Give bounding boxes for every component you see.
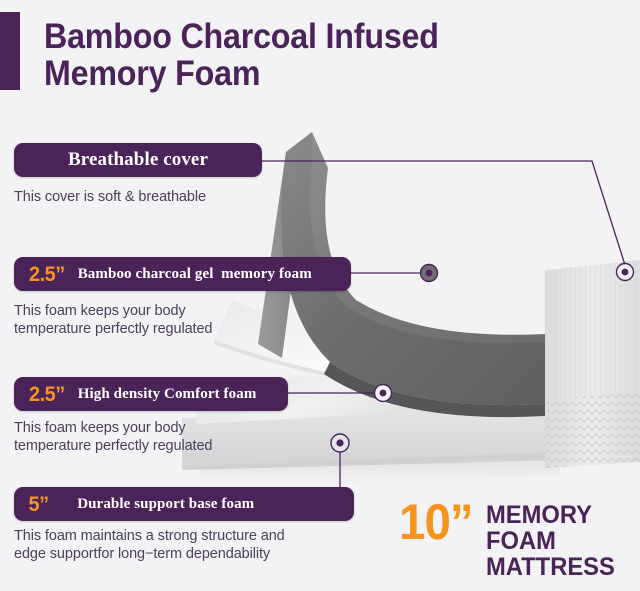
marker-dot-gel	[421, 265, 438, 282]
badge-breathable-cover[interactable]: Breathable cover	[14, 143, 262, 177]
marker-dot-cover	[617, 264, 634, 281]
badge-measurement: 5”	[29, 494, 49, 515]
mattress-spec: 10” MEMORY FOAM MATTRESS	[399, 500, 640, 580]
infographic-canvas: Bamboo Charcoal Infused Memory Foam Brea…	[0, 0, 640, 591]
page-title: Bamboo Charcoal Infused Memory Foam	[44, 18, 522, 92]
fabric-cover-panel	[545, 256, 640, 468]
badge-title: High density Comfort foam	[78, 386, 257, 403]
description-high-density-comfort: This foam keeps your body temperature pe…	[14, 420, 314, 455]
marker-dot-base	[331, 434, 349, 452]
badge-measurement: 2.5”	[29, 264, 65, 285]
badge-title: Breathable cover	[68, 149, 208, 171]
description-breathable-cover: This cover is soft & breathable	[14, 189, 294, 207]
badge-title: Bamboo charcoal gel memory foam	[78, 266, 312, 283]
spec-thickness: 10”	[399, 500, 473, 544]
description-durable-support-base: This foam maintains a strong structure a…	[14, 528, 374, 563]
badge-durable-support-base[interactable]: 5” Durable support base foam	[14, 487, 354, 521]
badge-measurement: 2.5”	[29, 384, 65, 405]
spec-label: MEMORY FOAM MATTRESS	[486, 502, 633, 580]
description-bamboo-charcoal-gel: This foam keeps your body temperature pe…	[14, 303, 314, 338]
accent-bar	[0, 12, 20, 90]
badge-bamboo-charcoal-gel[interactable]: 2.5” Bamboo charcoal gel memory foam	[14, 257, 351, 291]
badge-title: Durable support base foam	[77, 496, 254, 513]
badge-high-density-comfort[interactable]: 2.5” High density Comfort foam	[14, 377, 288, 411]
marker-dot-comfort	[375, 385, 392, 402]
